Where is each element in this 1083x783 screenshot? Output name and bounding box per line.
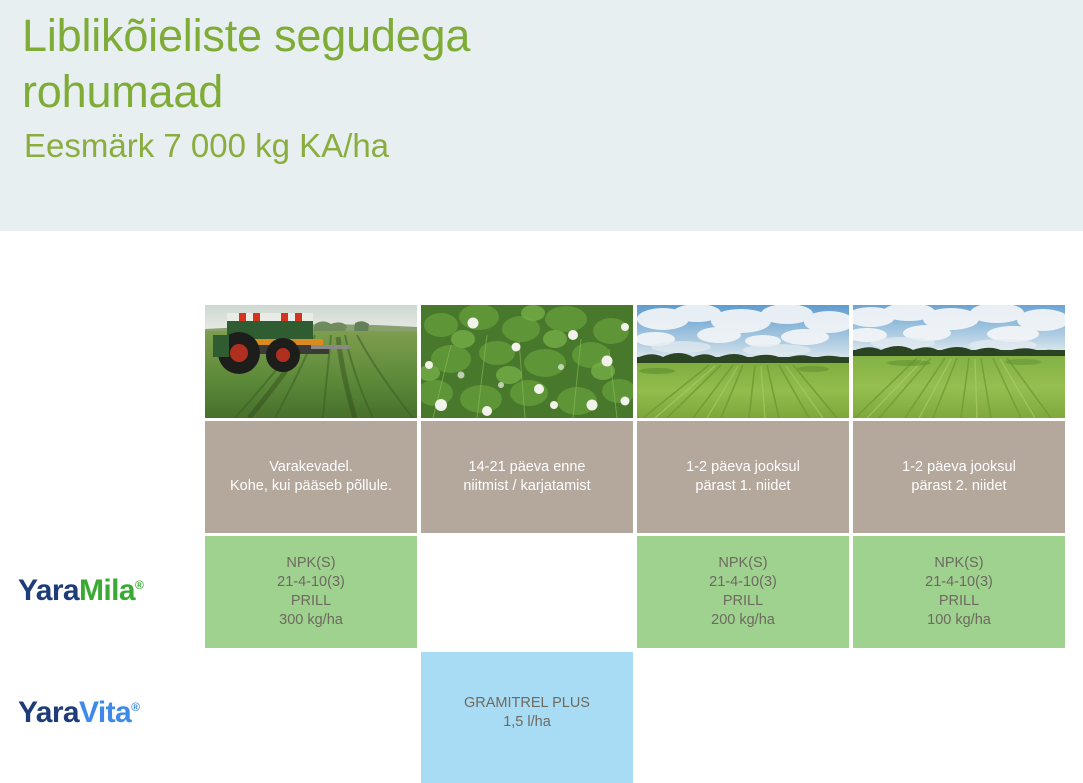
clover-mix-image xyxy=(421,305,633,418)
timing-cell-1: Varakevadel. Kohe, kui pääseb põllule. xyxy=(205,421,417,533)
yaramila-cell-2-empty xyxy=(421,536,633,648)
timing-cell-4: 1-2 päeva jooksul pärast 2. niidet xyxy=(853,421,1065,533)
photo-row xyxy=(205,305,1068,418)
registered-mark-icon: ® xyxy=(135,578,143,592)
timing-cell-2: 14-21 päeva enne niitmist / karjatamist xyxy=(421,421,633,533)
page-subtitle: Eesmärk 7 000 kg KA/ha xyxy=(24,126,389,166)
yaravita-product-row: GRAMITREL PLUS 1,5 l/ha xyxy=(205,652,1068,783)
timing-row: Varakevadel. Kohe, kui pääseb põllule. 1… xyxy=(205,421,1068,533)
yaravita-cell-3-empty xyxy=(637,652,849,783)
mown-grass-field-image xyxy=(853,305,1065,418)
logo-yaramila-suffix: Mila xyxy=(79,574,135,607)
header-band: Liblikõieliste segudega rohumaad Eesmärk… xyxy=(0,0,1083,231)
yaravita-cell-2: GRAMITREL PLUS 1,5 l/ha xyxy=(421,652,633,783)
logo-yaramila: YaraMila® xyxy=(18,576,143,606)
photo-cell-mown-grass-field-2 xyxy=(853,305,1065,418)
photo-cell-mown-grass-field-1 xyxy=(637,305,849,418)
logo-yaravita-suffix: Vita xyxy=(79,696,131,729)
yaramila-cell-4: NPK(S) 21-4-10(3) PRILL 100 kg/ha xyxy=(853,536,1065,648)
yaramila-product-row: NPK(S) 21-4-10(3) PRILL 300 kg/ha NPK(S)… xyxy=(205,536,1068,648)
yaramila-cell-1: NPK(S) 21-4-10(3) PRILL 300 kg/ha xyxy=(205,536,417,648)
yaravita-cell-4-empty xyxy=(853,652,1065,783)
registered-mark-icon: ® xyxy=(131,700,139,714)
mown-grass-field-image xyxy=(637,305,849,418)
logo-yaravita: YaraVita® xyxy=(18,698,139,728)
timing-cell-3: 1-2 päeva jooksul pärast 1. niidet xyxy=(637,421,849,533)
photo-cell-clover-legume-mix xyxy=(421,305,633,418)
tractor-field-image xyxy=(205,305,417,418)
page-title: Liblikõieliste segudega rohumaad xyxy=(22,8,742,120)
yaramila-cell-3: NPK(S) 21-4-10(3) PRILL 200 kg/ha xyxy=(637,536,849,648)
logo-yaramila-prefix: Yara xyxy=(18,574,79,607)
photo-cell-tractor-spreading-fertiliser xyxy=(205,305,417,418)
logo-yaravita-prefix: Yara xyxy=(18,696,79,729)
yaravita-cell-1-empty xyxy=(205,652,417,783)
treatment-program-matrix: Varakevadel. Kohe, kui pääseb põllule. 1… xyxy=(205,305,1068,783)
